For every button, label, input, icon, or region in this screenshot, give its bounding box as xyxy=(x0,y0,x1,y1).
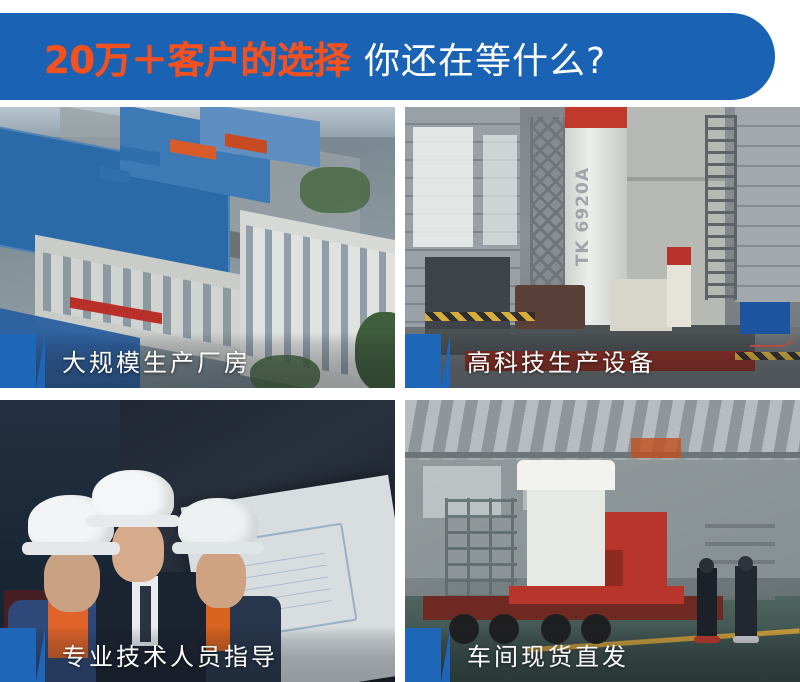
photo-caption: 高科技生产设备 xyxy=(467,343,656,378)
photo-card-production-equipment[interactable]: TK 6920A 高科技生产设备 xyxy=(405,107,800,388)
photo-caption: 车间现货直发 xyxy=(467,637,629,672)
caption-accent-tab xyxy=(0,628,36,682)
photo-grid: 大规模生产厂房 TK 6920A 高科技生产设备 xyxy=(0,107,800,682)
headline-question-text: 你还在等什么? xyxy=(364,32,606,84)
photo-card-production-workshop[interactable]: 大规模生产厂房 xyxy=(0,107,395,388)
promo-banner: 20万＋客户的选择 你还在等什么? 大规模生产厂房 xyxy=(0,0,800,682)
photo-caption: 大规模生产厂房 xyxy=(62,343,251,378)
caption-accent-tab xyxy=(405,334,441,388)
headline-accent-text: 20万＋客户的选择 xyxy=(44,30,350,84)
photo-card-in-stock-shipping[interactable]: 车间现货直发 xyxy=(405,400,800,682)
page-title: 20万＋客户的选择 你还在等什么? xyxy=(44,30,606,84)
caption-accent-tab xyxy=(405,628,441,682)
header-banner: 20万＋客户的选择 你还在等什么? xyxy=(0,13,775,100)
photo-caption: 专业技术人员指导 xyxy=(62,637,278,672)
caption-accent-tab xyxy=(0,334,36,388)
photo-card-technical-guidance[interactable]: 专业技术人员指导 xyxy=(0,400,395,682)
machine-brand-label: TK 6920A xyxy=(573,167,619,266)
